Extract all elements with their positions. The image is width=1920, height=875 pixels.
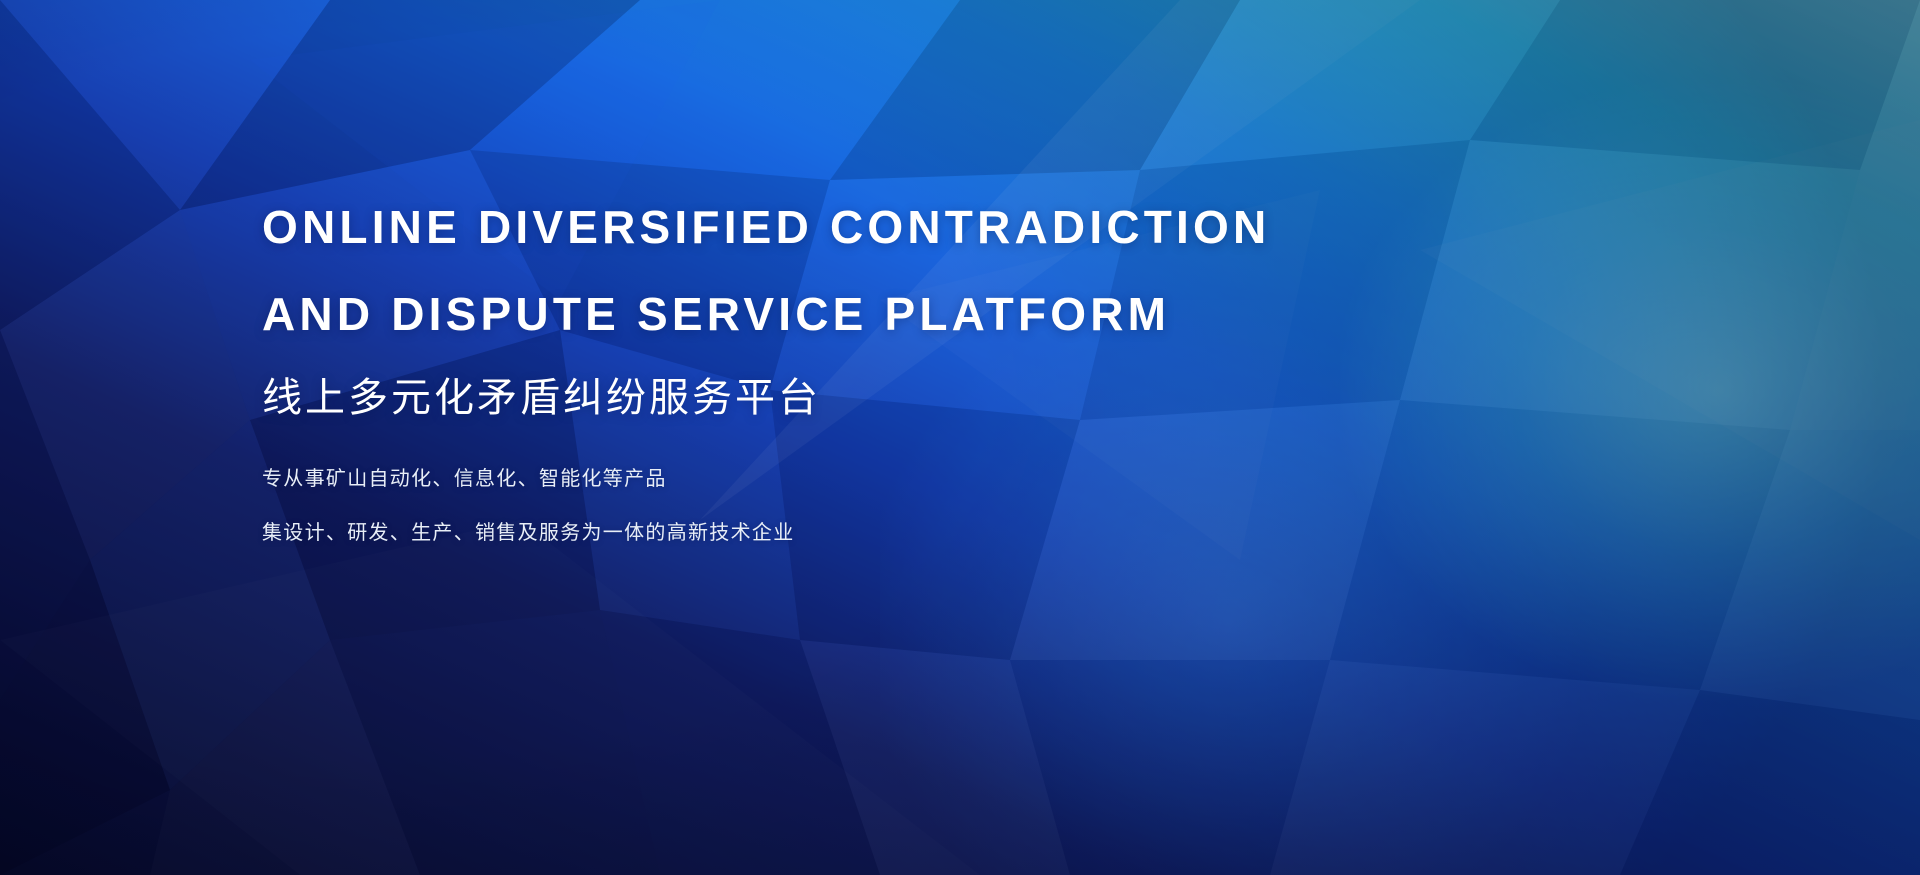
description-line-1: 专从事矿山自动化、信息化、智能化等产品 xyxy=(262,462,1462,496)
headline-english-line2: AND DISPUTE SERVICE PLATFORM xyxy=(262,286,1462,342)
banner-content: ONLINE DIVERSIFIED CONTRADICTION AND DIS… xyxy=(262,168,1462,570)
headline-english-line1: ONLINE DIVERSIFIED CONTRADICTION xyxy=(262,199,1462,255)
hero-banner: ONLINE DIVERSIFIED CONTRADICTION AND DIS… xyxy=(0,0,1920,875)
headline-chinese: 线上多元化矛盾纠纷服务平台 xyxy=(262,372,1462,424)
banner-description: 专从事矿山自动化、信息化、智能化等产品 集设计、研发、生产、销售及服务为一体的高… xyxy=(262,462,1462,550)
description-line-2: 集设计、研发、生产、销售及服务为一体的高新技术企业 xyxy=(262,516,1462,550)
